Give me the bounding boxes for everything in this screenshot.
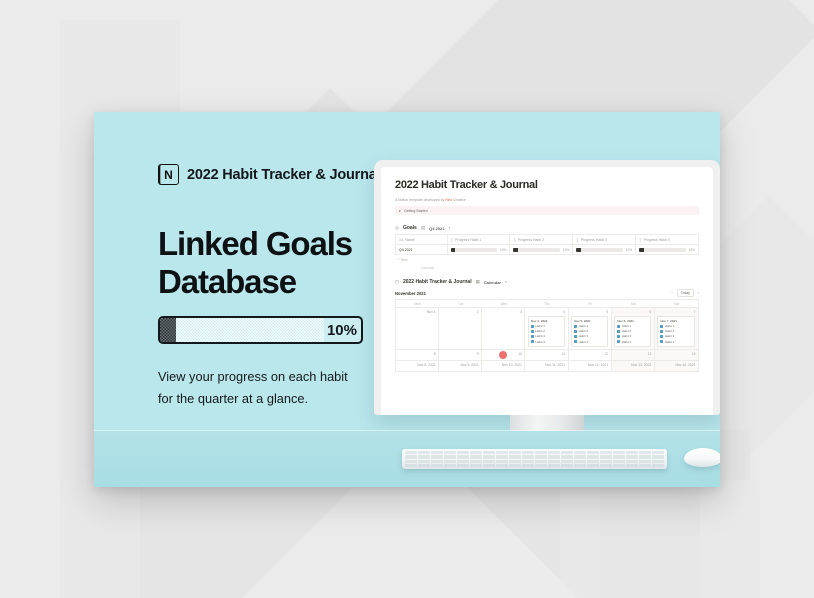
calendar-database-header: ◷ 2022 Habit Tracker & Journal ▦ Calenda… [395,279,699,285]
habit-label: Habit 1 [665,324,675,328]
keyboard-key [548,455,560,458]
getting-started-toggle[interactable]: Getting Started [395,206,699,215]
keyboard-key [418,451,430,454]
event-date: Nov 6, 2021 [617,319,648,323]
goals-column-header[interactable]: ∑Progress Habit 3 [573,235,636,245]
habit-item[interactable]: Habit 4 [660,340,692,344]
goals-column-header[interactable]: ∑Progress Habit 4 [636,235,699,245]
calendar-event-card[interactable]: Nov 7, 2021Habit 1Habit 2Habit 3Habit 4 [657,316,695,347]
keyboard-key [613,464,625,467]
clock-icon: ◷ [395,279,399,285]
calendar-day-cell[interactable]: Nov 10, 2021 [482,360,525,371]
calendar-weekday-header: MonTueWedThuFriSatSun [396,300,698,307]
keyboard-key [496,460,508,463]
habit-label: Habit 3 [535,334,545,338]
table-row[interactable]: Q4 202110%10%10%10% [396,245,699,255]
calendar-day-number: 5 [571,310,608,314]
keyboard-key [561,451,573,454]
calendar-day-number: 7 [657,310,695,314]
monitor-screen: 2022 Habit Tracker & Journal A Notion te… [381,167,713,415]
keyboard-key [652,464,664,467]
calendar-day-cell[interactable]: Nov 13, 2021 [612,360,655,371]
calendar-day-number: Nov 14, 2021 [657,363,695,367]
keyboard [402,449,667,469]
habit-item[interactable]: Habit 1 [531,324,562,328]
goals-column-header[interactable]: AaName [396,235,448,245]
keyboard-key [522,460,534,463]
habit-chip-icon [531,330,534,333]
keyboard-key [587,451,599,454]
calendar-day-cell[interactable]: 8 [396,349,439,360]
keyboard-key [470,464,482,467]
keyboard-key [522,455,534,458]
keyboard-key [457,455,469,458]
habit-label: Habit 2 [665,329,675,333]
calendar-day-cell[interactable]: 6Nov 6, 2021Habit 1Habit 2Habit 3Habit 4 [612,307,655,349]
event-date: Nov 5, 2021 [574,319,605,323]
keyboard-key [444,455,456,458]
calendar-event-card[interactable]: Nov 5, 2021Habit 1Habit 2Habit 3Habit 4 [571,316,608,347]
calendar-day-cell[interactable]: Nov 8, 2021 [396,360,439,371]
habit-label: Habit 4 [665,340,675,344]
goals-progress-cell: 10% [510,245,573,255]
goals-table-body: Q4 202110%10%10%10% [396,245,699,255]
habit-chip-icon [617,335,620,338]
keyboard-key [470,460,482,463]
keyboard-key [574,464,586,467]
calendar-day-cell[interactable]: Nov 14, 2021 [655,360,698,371]
mini-progress-bar [639,248,686,252]
habit-chip-icon [617,340,620,343]
habit-chip-icon [574,325,577,328]
keyboard-key [600,451,612,454]
calendar-view-label[interactable]: Calendar [484,280,501,285]
calendar-day-cell[interactable]: Nov 11, 2021 [525,360,568,371]
keyboard-key [483,451,495,454]
table-icon: ▤ [421,225,425,231]
calendar-day-number: 13 [614,352,651,356]
habit-item[interactable]: Habit 4 [617,340,648,344]
keyboard-key [509,464,521,467]
goals-column-label: Progress Habit 1 [455,238,481,242]
keyboard-key [639,464,651,467]
calendar-month-label: November 2021 [395,291,426,296]
calendar-day-cell[interactable]: 2 [439,307,482,349]
mini-progress-label: 10% [689,248,695,252]
keyboard-row [405,460,664,463]
calendar-day-number: 12 [571,352,608,356]
habit-label: Habit 4 [579,340,589,344]
keyboard-key [561,464,573,467]
mini-progress-bar [576,248,622,252]
habit-item[interactable]: Habit 3 [660,334,692,338]
keyboard-key [626,464,638,467]
calendar-day-cell[interactable]: Nov 1 [396,307,439,349]
habit-chip-icon [617,325,620,328]
habit-item[interactable]: Habit 2 [574,329,605,333]
keyboard-row [405,455,664,458]
goals-column-header[interactable]: ∑Progress Habit 2 [510,235,573,245]
habit-item[interactable]: Habit 2 [660,329,692,333]
calendar-day-cell[interactable]: 12 [569,349,612,360]
calendar-week-row: Nov 8, 2021Nov 9, 2021Nov 10, 2021Nov 11… [396,360,698,371]
keyboard-key [652,451,664,454]
keyboard-key [522,464,534,467]
calendar-weekday: Sun [655,300,698,307]
progress-fill [160,318,176,342]
keyboard-row [405,464,664,467]
habit-label: Habit 1 [579,324,589,328]
calendar-week-row: 891011121314 [396,349,698,360]
keyboard-key [548,451,560,454]
keyboard-key [405,451,417,454]
habit-chip-icon [531,335,534,338]
event-date: Nov 4, 2021 [531,319,562,323]
title-icon: Aa [399,238,403,242]
brand-title: 2022 Habit Tracker & Journal [187,167,380,183]
subtitle-suffix: Creative [452,198,466,202]
keyboard-key [457,460,469,463]
chevron-down-icon[interactable]: ▾ [505,280,507,284]
keyboard-key [509,455,521,458]
habit-chip-icon [660,335,663,338]
chevron-left-icon[interactable]: ‹ [672,291,673,295]
calendar-nav: ‹ Today › [672,289,699,297]
formula-icon: ∑ [513,238,516,242]
keyboard-key [444,464,456,467]
keyboard-key [561,455,573,458]
keyboard-key [652,460,664,463]
keyboard-key [405,464,417,467]
keyboard-key [626,455,638,458]
calendar-weeks: Nov 1234Nov 4, 2021Habit 1Habit 2Habit 3… [396,307,698,371]
keyboard-key [587,464,599,467]
calendar-day-cell[interactable]: 7Nov 7, 2021Habit 1Habit 2Habit 3Habit 4 [655,307,698,349]
bg-shape-8 [700,480,760,598]
keyboard-key [496,451,508,454]
calendar-day-number: Nov 11, 2021 [528,363,565,367]
habit-label: Habit 2 [535,329,545,333]
habit-item[interactable]: Habit 4 [574,340,605,344]
habit-item[interactable]: Habit 1 [617,324,648,328]
calendar-day-cell[interactable]: 11 [525,349,568,360]
goals-progress-cell: 10% [447,245,510,255]
habit-item[interactable]: Habit 2 [617,329,648,333]
calendar-day-cell[interactable]: 10 [482,349,525,360]
habit-chip-icon [660,325,663,328]
today-button[interactable]: Today [677,289,694,297]
calendar-grid: MonTueWedThuFriSatSun Nov 1234Nov 4, 202… [395,299,699,372]
calendar-day-number: Nov 10, 2021 [485,363,522,367]
calendar-database-name: 2022 Habit Tracker & Journal [403,279,472,285]
habit-item[interactable]: Habit 2 [531,329,562,333]
calendar-event-card[interactable]: Nov 6, 2021Habit 1Habit 2Habit 3Habit 4 [614,316,651,347]
calendar-week-row: Nov 1234Nov 4, 2021Habit 1Habit 2Habit 3… [396,307,698,349]
calendar-weekday: Mon [396,300,439,307]
mini-progress-label: 10% [626,248,632,252]
keyboard-key [418,455,430,458]
habit-item[interactable]: Habit 3 [617,334,648,338]
habit-chip-icon [617,330,620,333]
keyboard-key [418,464,430,467]
keyboard-key [626,460,638,463]
keyboard-key [587,460,599,463]
goals-view-label[interactable]: Q4 2021 [429,226,444,231]
keyboard-key [405,460,417,463]
keyboard-key [431,460,443,463]
calendar-day-cell[interactable]: 3 [482,307,525,349]
calendar-day-number: 6 [614,310,651,314]
mini-progress-label: 10% [500,248,506,252]
calendar-weekday: Fri [569,300,612,307]
habit-label: Habit 4 [535,340,545,344]
habit-chip-icon [574,335,577,338]
keyboard-key [639,460,651,463]
keyboard-key [600,455,612,458]
monitor-bezel: 2022 Habit Tracker & Journal A Notion te… [374,160,720,415]
goals-progress-cell: 10% [573,245,636,255]
goals-database-name: Goals [403,225,417,231]
notion-page-title: 2022 Habit Tracker & Journal [395,179,699,191]
keyboard-key [626,451,638,454]
calendar-toolbar: November 2021 ‹ Today › [395,289,699,297]
habit-label: Habit 3 [579,334,589,338]
goals-calculate-button[interactable]: Calculate [395,264,699,270]
keyboard-key [574,451,586,454]
calendar-day-cell[interactable]: 13 [612,349,655,360]
calendar-day-number: 4 [528,310,565,314]
notion-page: 2022 Habit Tracker & Journal A Notion te… [381,167,713,372]
keyboard-key [600,460,612,463]
calendar-weekday: Tue [439,300,482,307]
calendar-day-number: 2 [442,310,479,314]
keyboard-key [457,464,469,467]
goals-progress-cell: 10% [636,245,699,255]
keyboard-key [613,460,625,463]
goals-column-label: Progress Habit 4 [644,238,670,242]
keyboard-key [535,464,547,467]
calendar-day-cell[interactable]: Nov 9, 2021 [439,360,482,371]
chevron-right-icon[interactable]: › [698,291,699,295]
keyboard-key [574,460,586,463]
calendar-day-number: Nov 1 [399,310,436,314]
calendar-day-number: Nov 12, 2021 [571,363,608,367]
subtitle-prefix: A Notion template developed by [395,198,445,202]
habit-label: Habit 3 [622,334,632,338]
calendar-day-number: Nov 8, 2021 [399,363,436,367]
calendar-day-number: 8 [399,352,436,356]
formula-icon: ∑ [639,238,642,242]
keyboard-key [522,451,534,454]
calendar-icon: ▦ [476,279,480,285]
keyboard-key [639,455,651,458]
calendar-day-cell[interactable]: 5Nov 5, 2021Habit 1Habit 2Habit 3Habit 4 [569,307,612,349]
keyboard-key [470,455,482,458]
keyboard-key [509,451,521,454]
goals-column-header[interactable]: ∑Progress Habit 1 [447,235,510,245]
keyboard-key [431,451,443,454]
goals-column-label: Progress Habit 2 [518,238,544,242]
goals-new-row-button[interactable]: + New [395,255,699,264]
keyboard-key [431,464,443,467]
habit-chip-icon [574,340,577,343]
keyboard-key [587,455,599,458]
goals-database-header: ◎ Goals ▤ Q4 2021 ▾ [395,225,699,231]
progress-percent-label: 10% [324,323,361,338]
calendar-event-card[interactable]: Nov 4, 2021Habit 1Habit 2Habit 3Habit 4 [528,316,565,347]
habit-item[interactable]: Habit 1 [574,324,605,328]
calendar-day-cell[interactable]: Nov 12, 2021 [569,360,612,371]
goals-table-header-row: AaName∑Progress Habit 1∑Progress Habit 2… [396,235,699,245]
event-date: Nov 7, 2021 [660,319,692,323]
keyboard-key [509,460,521,463]
calendar-day-number: 14 [657,352,695,356]
mini-progress-bar [513,248,559,252]
formula-icon: ∑ [451,238,454,242]
keyboard-key [496,455,508,458]
keyboard-key [496,464,508,467]
keyboard-key [535,451,547,454]
keyboard-key [561,460,573,463]
keyboard-key [600,464,612,467]
keyboard-key [444,460,456,463]
calendar-weekday: Wed [482,300,525,307]
habit-label: Habit 1 [535,324,545,328]
keyboard-key [574,455,586,458]
keyboard-key [457,451,469,454]
keyboard-key [483,464,495,467]
habit-label: Habit 4 [622,340,632,344]
keyboard-key [431,455,443,458]
imac-mockup: 2022 Habit Tracker & Journal A Notion te… [374,160,720,465]
habit-chip-icon [660,340,663,343]
calendar-day-number: 11 [528,352,565,356]
habit-chip-icon [574,330,577,333]
notion-page-subtitle: A Notion template developed by Red Creat… [395,198,699,202]
goals-table: AaName∑Progress Habit 1∑Progress Habit 2… [395,234,699,255]
calendar-day-number: Nov 13, 2021 [614,363,651,367]
keyboard-key [639,451,651,454]
formula-icon: ∑ [576,238,579,242]
keyboard-key [418,460,430,463]
habit-label: Habit 3 [665,334,675,338]
calendar-weekday: Thu [525,300,568,307]
habit-item[interactable]: Habit 4 [531,340,562,344]
keyboard-key [444,451,456,454]
calendar-day-number: Nov 9, 2021 [442,363,479,367]
target-icon: ◎ [395,225,399,231]
habit-label: Habit 1 [622,324,632,328]
toggle-triangle-icon[interactable] [399,210,401,212]
keyboard-key [405,455,417,458]
progress-track [160,318,324,342]
mini-progress-label: 10% [563,248,569,252]
keyboard-key [535,455,547,458]
goals-row-name: Q4 2021 [396,245,448,255]
calendar-weekday: Sat [612,300,655,307]
keyboard-key [548,464,560,467]
today-marker [499,351,507,359]
habit-chip-icon [531,325,534,328]
hero-card: N 2022 Habit Tracker & Journal Linked Go… [94,112,720,487]
chevron-down-icon[interactable]: ▾ [448,226,450,230]
description-text: View your progress on each habit for the… [158,366,358,410]
habit-label: Habit 2 [579,329,589,333]
habit-label: Habit 2 [622,329,632,333]
keyboard-key [535,460,547,463]
calendar-day-number: 3 [485,310,522,314]
keyboard-row [405,451,664,454]
goals-column-label: Progress Habit 3 [581,238,607,242]
habit-item[interactable]: Habit 3 [531,334,562,338]
habit-chip-icon [531,340,534,343]
notion-logo-icon: N [158,164,179,185]
getting-started-label: Getting Started [404,209,428,213]
habit-item[interactable]: Habit 3 [574,334,605,338]
keyboard-key [470,451,482,454]
habit-chip-icon [660,330,663,333]
keyboard-key [613,455,625,458]
goals-column-label: Name [405,238,414,242]
keyboard-key [483,460,495,463]
calendar-day-number: 9 [442,352,479,356]
calendar-day-cell[interactable]: 9 [439,349,482,360]
mini-progress-bar [451,248,497,252]
progress-bar: 10% [158,316,363,344]
habit-item[interactable]: Habit 1 [660,324,692,328]
keyboard-key [613,451,625,454]
calendar-day-cell[interactable]: 14 [655,349,698,360]
calendar-day-cell[interactable]: 4Nov 4, 2021Habit 1Habit 2Habit 3Habit 4 [525,307,568,349]
keyboard-key [548,460,560,463]
keyboard-key [483,455,495,458]
keyboard-key [652,455,664,458]
mouse [684,448,720,467]
